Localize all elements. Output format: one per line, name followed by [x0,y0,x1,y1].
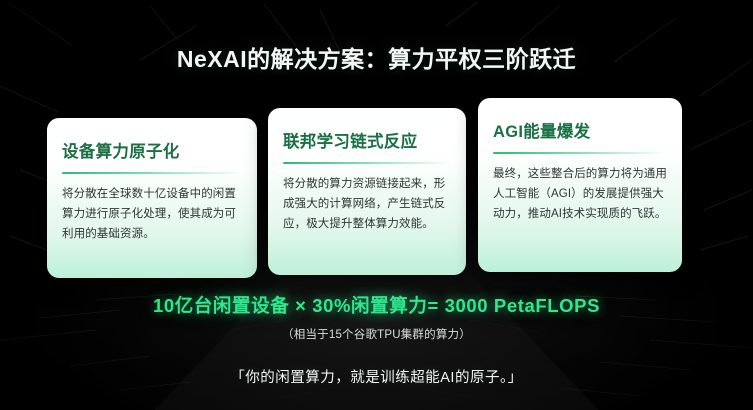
stage-card-2-divider [283,162,451,164]
stage-card-3-title: AGI能量爆发 [493,118,667,142]
stage-card-2: 联邦学习链式反应 将分散的算力资源链接起来，形成强大的计算网络，产生链式反应，极… [268,108,466,275]
stage-card-3-divider [493,152,667,154]
stage-card-1-title: 设备算力原子化 [62,138,242,162]
stage-card-3-body: 最终，这些整合后的算力将为通用人工智能（AGI）的发展提供强大动力，推动AI技术… [493,165,667,224]
stage-card-1: 设备算力原子化 将分散在全球数十亿设备中的闲置算力进行原子化处理，使其成为可利用… [47,118,257,278]
stage-card-1-divider [62,172,242,174]
presentation-slide: NeXAI的解决方案：算力平权三阶跃迁 设备算力原子化 将分散在全球数十亿设备中… [0,0,753,410]
compute-formula: 10亿台闲置设备 × 30%闲置算力= 3000 PetaFLOPS [0,292,753,318]
stage-card-3: AGI能量爆发 最终，这些整合后的算力将为通用人工智能（AGI）的发展提供强大动… [478,98,682,272]
stage-card-1-body: 将分散在全球数十亿设备中的闲置算力进行原子化处理，使其成为可利用的基础资源。 [62,185,242,244]
stage-card-group: 设备算力原子化 将分散在全球数十亿设备中的闲置算力进行原子化处理，使其成为可利用… [0,0,753,290]
stage-card-2-body: 将分散的算力资源链接起来，形成强大的计算网络，产生链式反应，极大提升整体算力效能… [283,175,451,234]
closing-quote: 「你的闲置算力，就是训练超能AI的原子。」 [0,366,753,387]
compute-formula-note: （相当于15个谷歌TPU集群的算力） [0,326,753,342]
stage-card-2-title: 联邦学习链式反应 [283,128,451,152]
